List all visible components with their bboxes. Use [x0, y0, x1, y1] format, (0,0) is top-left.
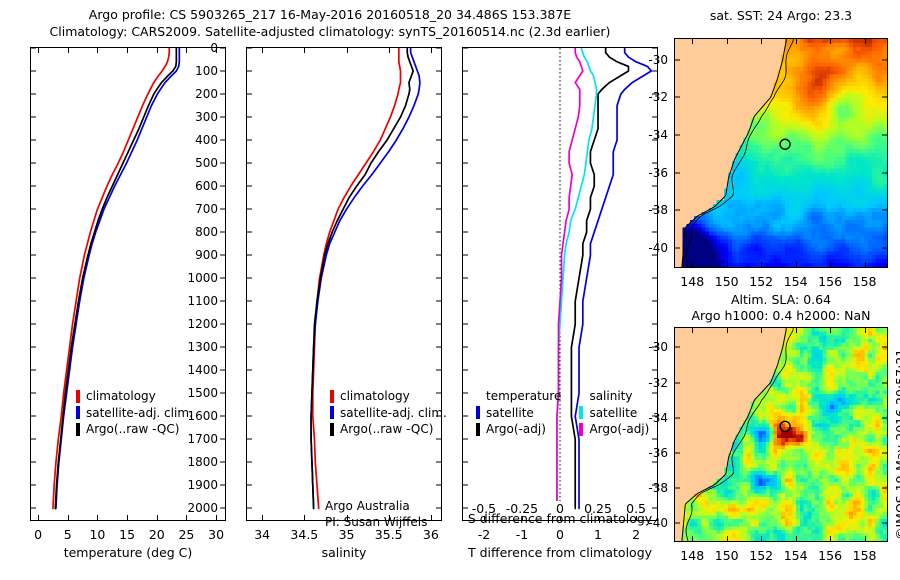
x-tick-label: 1 — [594, 527, 602, 542]
lon-tick-label: 152 — [749, 548, 773, 563]
attribution-note: Argo Australia PI: Susan Wijffels — [325, 498, 427, 530]
legend-swatch-s-satellite — [579, 406, 583, 419]
x-tick-label: 10 — [89, 527, 105, 542]
sst-map-title: sat. SST: 24 Argo: 23.3 — [672, 8, 890, 24]
legend-item: Argo(-adj) — [476, 421, 561, 438]
legend-item: satellite — [476, 405, 561, 422]
title-line-1: Argo profile: CS 5903265_217 16-May-2016… — [0, 6, 660, 23]
x-tick-label: 2 — [632, 527, 640, 542]
salinity-curves — [247, 48, 441, 520]
lon-tick-label: 158 — [853, 274, 877, 289]
x-tick-label: 25 — [178, 527, 194, 542]
legend-item: satellite — [579, 405, 649, 422]
legend-item: Argo(..raw -QC) — [330, 421, 447, 438]
legend-label: satellite-adj. clim. — [86, 405, 193, 422]
title-line-2: Climatology: CARS2009. Satellite-adjuste… — [0, 23, 660, 40]
legend-swatch-t-argo-adj — [476, 423, 480, 436]
x-tick-label: 34.5 — [290, 527, 318, 542]
sla-map-title-line-1: Altim. SLA: 0.64 — [672, 292, 890, 308]
lon-tick-label: 156 — [818, 548, 842, 563]
legend-item: Argo(-adj) — [579, 421, 649, 438]
legend-label: satellite — [486, 405, 534, 422]
legend-label: Argo(-adj) — [589, 421, 649, 438]
legend-item: satellite-adj. clim. — [76, 405, 193, 422]
lon-tick-label: 150 — [715, 548, 739, 563]
legend-col-title: temperature — [476, 388, 561, 405]
difference-axis-title-top: S difference from climatology — [468, 511, 652, 526]
legend-label: climatology — [340, 388, 410, 405]
lon-tick-label: 158 — [853, 548, 877, 563]
pi-name: PI: Susan Wijffels — [325, 514, 427, 530]
legend-swatch-satellite-adj — [76, 406, 80, 419]
x-tick-label: 5 — [64, 527, 72, 542]
legend-swatch-satellite-adj — [330, 406, 334, 419]
legend-label: Argo(..raw -QC) — [340, 421, 433, 438]
x-tick-label: -1 — [516, 527, 528, 542]
x-tick-label: 20 — [149, 527, 165, 542]
legend-label: satellite-adj. clim. — [340, 405, 447, 422]
difference-legend-temperature-col: temperature satellite Argo(-adj) — [476, 388, 561, 438]
x-tick-label: 15 — [119, 527, 135, 542]
sla-map-image — [675, 328, 887, 541]
legend-item: Argo(..raw -QC) — [76, 421, 193, 438]
difference-legend-salinity-col: salinity satellite Argo(-adj) — [579, 388, 649, 438]
sla-map-title-line-2: Argo h1000: 0.4 h2000: NaN — [672, 308, 890, 324]
legend-label: satellite — [589, 405, 637, 422]
x-tick-label: 30 — [208, 527, 224, 542]
legend-label: Argo(..raw -QC) — [86, 421, 179, 438]
salinity-axis-title: salinity — [322, 545, 367, 560]
x-tick-label: 0 — [34, 527, 42, 542]
temperature-legend: climatology satellite-adj. clim. Argo(..… — [76, 388, 193, 438]
lon-tick-label: 148 — [680, 548, 704, 563]
x-tick-label: -2 — [478, 527, 490, 542]
legend-swatch-s-argo-adj — [579, 423, 583, 436]
legend-col-title: salinity — [579, 388, 649, 405]
difference-axis-title: T difference from climatology — [468, 545, 652, 560]
legend-label: climatology — [86, 388, 156, 405]
page-title: Argo profile: CS 5903265_217 16-May-2016… — [0, 6, 660, 40]
legend-label: Argo(-adj) — [486, 421, 546, 438]
legend-swatch-argo — [330, 423, 334, 436]
sst-map-image — [675, 39, 887, 267]
legend-swatch-climatology — [76, 390, 80, 403]
difference-curves — [463, 48, 657, 520]
temperature-curves — [31, 48, 225, 520]
temperature-axis-title: temperature (deg C) — [64, 545, 193, 560]
sla-map-title: Altim. SLA: 0.64 Argo h1000: 0.4 h2000: … — [672, 292, 890, 324]
lon-tick-label: 154 — [784, 548, 808, 563]
legend-swatch-climatology — [330, 390, 334, 403]
legend-item: climatology — [330, 388, 447, 405]
org-name: Argo Australia — [325, 498, 427, 514]
x-tick-label: 34 — [254, 527, 270, 542]
sla-map-panel — [674, 327, 888, 542]
temperature-plot-panel — [30, 47, 226, 521]
lon-tick-label: 156 — [818, 274, 842, 289]
salinity-plot-panel — [246, 47, 442, 521]
lon-tick-label: 152 — [749, 274, 773, 289]
legend-item: satellite-adj. clim. — [330, 405, 447, 422]
lon-tick-label: 148 — [680, 274, 704, 289]
lon-tick-label: 150 — [715, 274, 739, 289]
lon-tick-label: 154 — [784, 274, 808, 289]
difference-legend: temperature satellite Argo(-adj) salinit… — [476, 388, 649, 438]
salinity-legend: climatology satellite-adj. clim. Argo(..… — [330, 388, 447, 438]
legend-swatch-argo — [76, 423, 80, 436]
legend-swatch-t-satellite — [476, 406, 480, 419]
legend-item: climatology — [76, 388, 193, 405]
difference-plot-panel — [462, 47, 658, 521]
x-tick-label: 0 — [556, 527, 564, 542]
sst-map-panel — [674, 38, 888, 268]
copyright-label: ©IMOS 19-May-2016 20:57:21 — [893, 349, 900, 540]
